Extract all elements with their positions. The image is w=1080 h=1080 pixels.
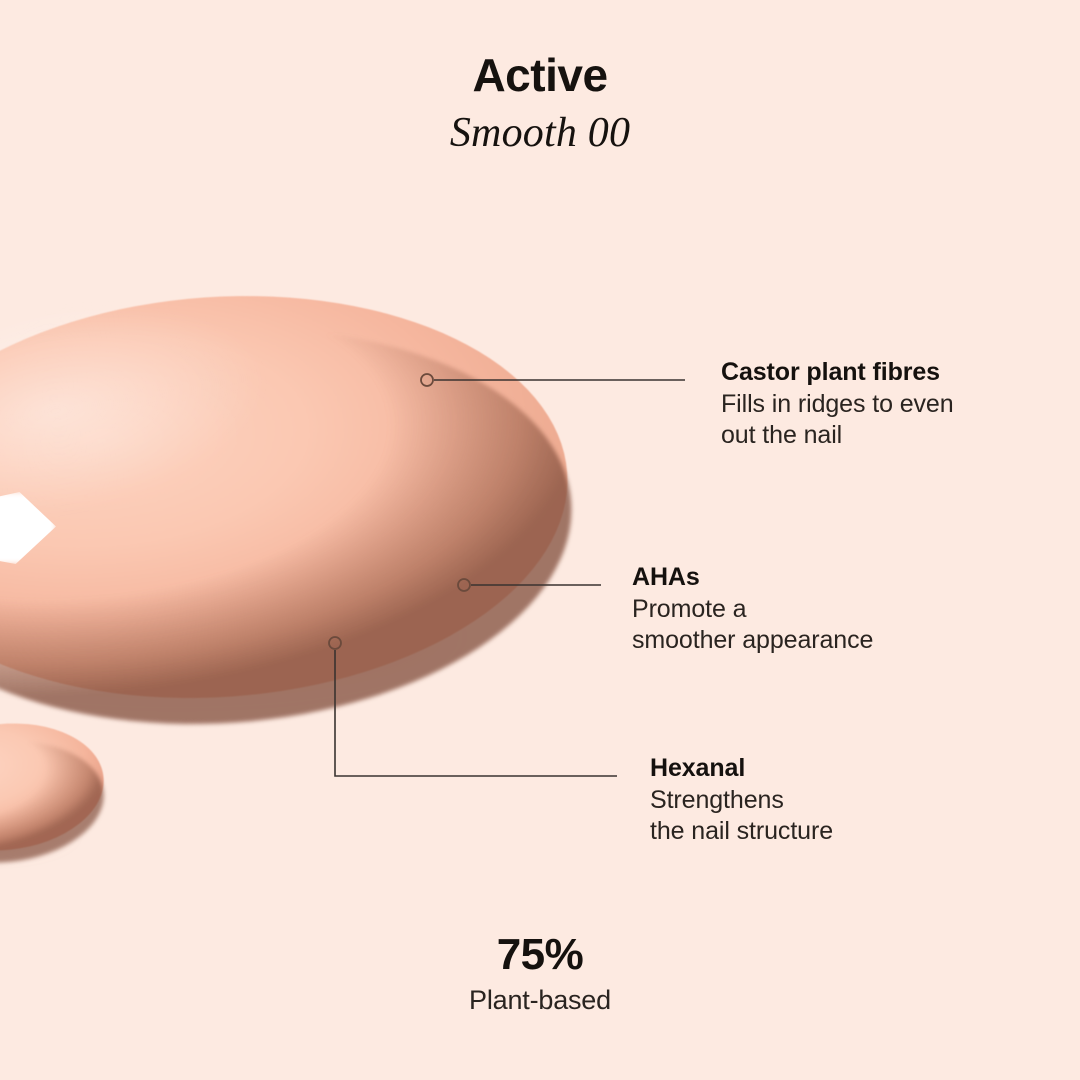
callout-title: AHAs xyxy=(632,562,952,594)
callout-body-line: out the nail xyxy=(721,420,1021,452)
footer: 75% Plant-based xyxy=(0,932,1080,1016)
leader-line-hexanal xyxy=(329,637,617,776)
page-title: Active xyxy=(0,52,1080,98)
callout-body-line: Strengthens xyxy=(650,785,950,817)
plant-based-percentage: 75% xyxy=(0,932,1080,978)
leader-dot-icon xyxy=(458,579,470,591)
callout-body-line: the nail structure xyxy=(650,816,950,848)
plant-based-label: Plant-based xyxy=(0,986,1080,1016)
callout-body-line: smoother appearance xyxy=(632,625,952,657)
leader-dot-icon xyxy=(329,637,341,649)
callout-ahas: AHAs Promote a smoother appearance xyxy=(632,562,952,657)
header: Active Smooth 00 xyxy=(0,52,1080,154)
leader-dot-icon xyxy=(421,374,433,386)
leader-line-castor-plant-fibres xyxy=(421,374,685,386)
product-ingredient-infographic: Active Smooth 00 Castor plant fibres Fil… xyxy=(0,0,1080,1080)
leader-line-ahas xyxy=(458,579,601,591)
callout-body-line: Fills in ridges to even xyxy=(721,389,1021,421)
page-subtitle: Smooth 00 xyxy=(0,112,1080,154)
callout-hexanal: Hexanal Strengthens the nail structure xyxy=(650,753,950,848)
callout-castor-plant-fibres: Castor plant fibres Fills in ridges to e… xyxy=(721,357,1021,452)
callout-title: Castor plant fibres xyxy=(721,357,1021,389)
callout-body-line: Promote a xyxy=(632,594,952,626)
callout-title: Hexanal xyxy=(650,753,950,785)
leader-lines xyxy=(0,0,1080,1080)
leader-segment xyxy=(335,650,617,776)
